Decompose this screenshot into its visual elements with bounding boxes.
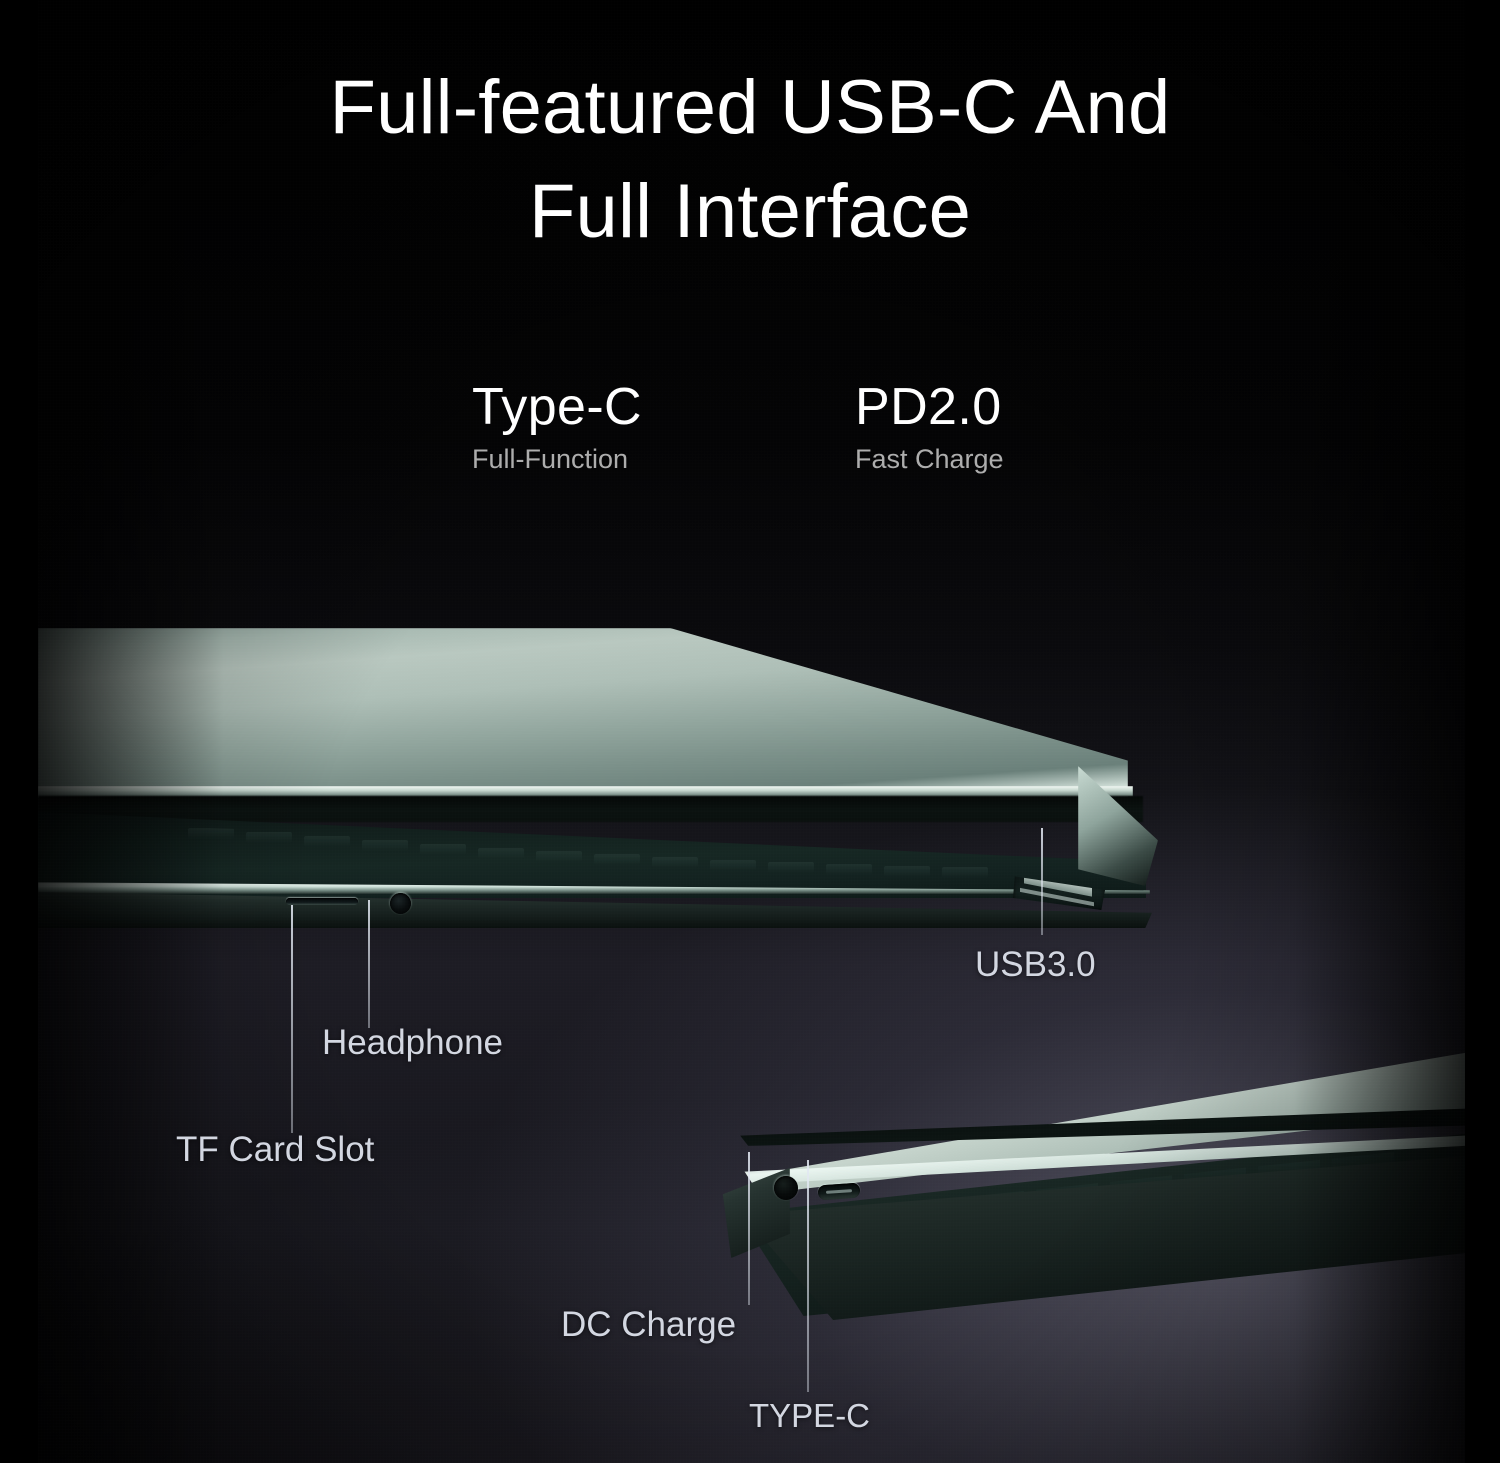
feature-type-c-heading: Type-C: [472, 378, 642, 436]
feature-type-c: Type-C Full-Function: [472, 378, 642, 476]
tf-card-slot-port-icon: [286, 898, 358, 905]
laptop-screen-gap: [38, 796, 1143, 822]
leader-line-type-c: [807, 1160, 809, 1392]
laptop-right-side-edge: [678, 1020, 1465, 1320]
laptop-left-front-edge: [38, 588, 1148, 948]
leader-line-headphone: [368, 900, 370, 1028]
product-feature-banner: Full-featured USB-C And Full Interface T…: [0, 0, 1500, 1463]
callout-label-tf-card-slot: TF Card Slot: [176, 1130, 374, 1170]
feature-type-c-subheading: Full-Function: [472, 442, 642, 476]
callout-label-type-c: TYPE-C: [749, 1396, 870, 1436]
keyboard-keys: [188, 824, 1068, 880]
page-title-line1: Full-featured USB-C And: [0, 56, 1500, 160]
leader-line-dc-charge: [748, 1152, 750, 1305]
type-c-port-icon: [818, 1183, 861, 1201]
page-title-line2: Full Interface: [0, 160, 1500, 264]
leader-line-usb3: [1041, 828, 1043, 935]
feature-pd-heading: PD2.0: [855, 378, 1004, 436]
callout-label-headphone: Headphone: [322, 1023, 503, 1063]
leader-line-tf-card-slot: [291, 905, 293, 1133]
callout-label-dc-charge: DC Charge: [561, 1305, 736, 1345]
feature-pd-subheading: Fast Charge: [855, 442, 1004, 476]
headphone-jack-port-icon: [390, 893, 411, 914]
laptop-lid: [38, 628, 1128, 798]
feature-pd: PD2.0 Fast Charge: [855, 378, 1004, 476]
dc-charge-port-icon: [774, 1176, 798, 1200]
callout-label-usb3: USB3.0: [975, 945, 1096, 985]
